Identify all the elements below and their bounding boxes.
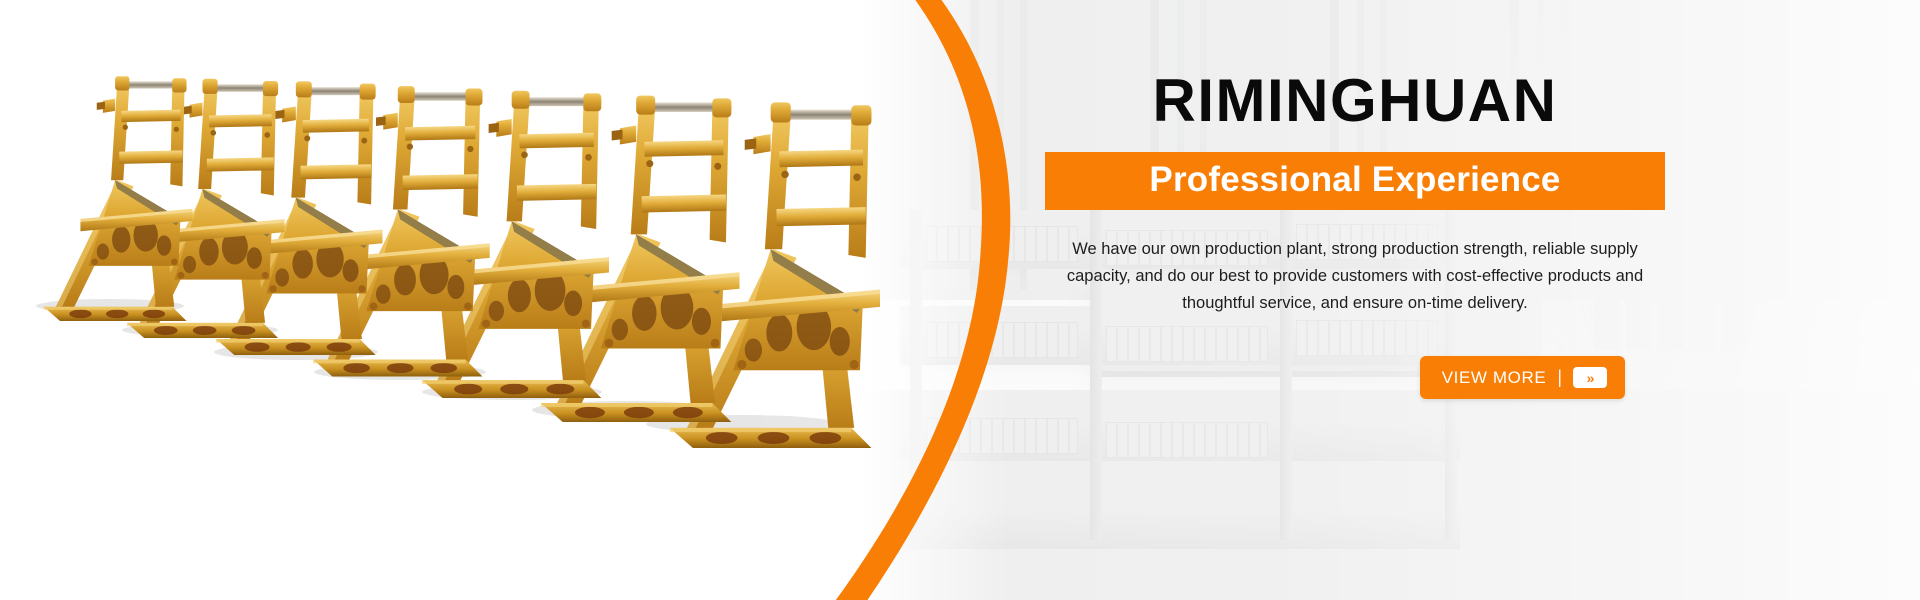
view-more-button[interactable]: VIEW MORE | »	[1420, 356, 1625, 399]
product-illustration	[0, 0, 880, 600]
promo-banner: RIMINGHUAN Professional Experience We ha…	[0, 0, 1920, 600]
product-photo	[0, 0, 880, 600]
rack-post	[910, 210, 922, 540]
description-text: We have our own production plant, strong…	[1045, 236, 1665, 316]
view-more-label: VIEW MORE	[1442, 368, 1547, 388]
cta-separator: |	[1557, 367, 1562, 388]
page-title: RIMINGHUAN	[1045, 70, 1665, 132]
machine-unit	[44, 76, 193, 321]
chevron-right-double-icon: »	[1573, 367, 1607, 388]
cta-row: VIEW MORE | »	[1045, 356, 1665, 399]
machine-row	[44, 76, 880, 448]
banner-content: RIMINGHUAN Professional Experience We ha…	[1045, 70, 1665, 399]
rack-shelf	[900, 490, 1460, 549]
steel-bundle	[926, 418, 1078, 454]
subtitle-banner: Professional Experience	[1045, 152, 1665, 210]
steel-bundle	[1106, 422, 1268, 458]
